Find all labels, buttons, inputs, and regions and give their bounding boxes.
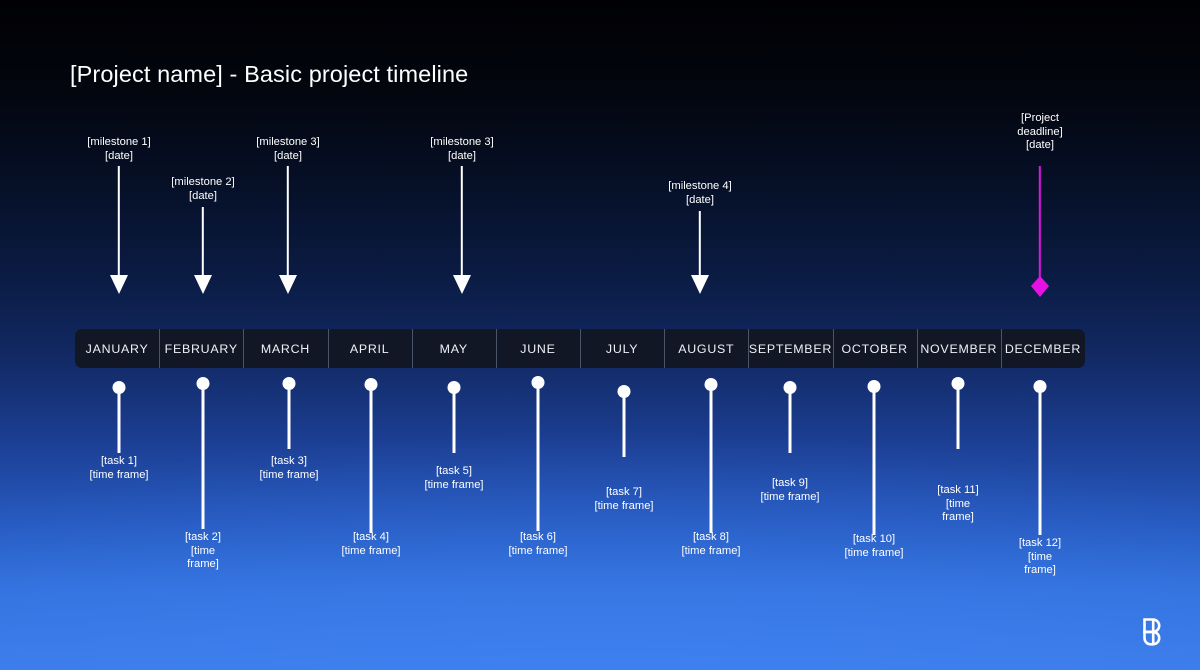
milestone-date: [date] (256, 150, 319, 164)
task-label[interactable]: [task 9][time frame] (742, 477, 838, 504)
deadline-text-line-2: deadline] (1017, 126, 1062, 140)
milestone-date: [date] (668, 194, 731, 208)
task-time-frame: [time frame] (742, 491, 838, 505)
milestone-name: [milestone 3] (430, 136, 493, 150)
task-pin-icon (1033, 380, 1047, 535)
task-label[interactable]: [task 2][time frame] (176, 531, 230, 572)
task-pin-icon (282, 377, 296, 449)
deadline-text-line-1: [Project (1017, 112, 1062, 126)
task-pin-icon (783, 381, 797, 453)
task-time-frame: [time frame] (176, 545, 230, 572)
month-bar: JANUARYFEBRUARYMARCHAPRILMAYJUNEJULYAUGU… (75, 329, 1085, 368)
month-cell[interactable]: APRIL (328, 329, 412, 368)
task-name: [task 3] (241, 455, 337, 469)
task-name: [task 1] (71, 455, 167, 469)
task-pin-icon (196, 377, 210, 529)
task-label[interactable]: [task 7][time frame] (576, 486, 672, 513)
milestone-arrow-icon (194, 207, 212, 294)
month-cell[interactable]: JULY (580, 329, 664, 368)
task-name: [task 4] (323, 531, 419, 545)
month-cell[interactable]: SEPTEMBER (748, 329, 832, 368)
month-cell[interactable]: JANUARY (75, 329, 159, 368)
task-name: [task 12] (1013, 537, 1067, 551)
task-pin-icon (531, 376, 545, 531)
task-time-frame: [time frame] (490, 545, 586, 559)
task-time-frame: [time frame] (71, 469, 167, 483)
month-cell[interactable]: OCTOBER (833, 329, 917, 368)
milestone-arrow-icon (110, 166, 128, 294)
milestone-name: [milestone 3] (256, 136, 319, 150)
task-time-frame: [time frame] (931, 498, 985, 525)
task-name: [task 6] (490, 531, 586, 545)
task-pin-icon (112, 381, 126, 453)
task-name: [task 5] (406, 465, 502, 479)
milestone-name: [milestone 2] (171, 176, 234, 190)
task-label[interactable]: [task 3][time frame] (241, 455, 337, 482)
task-time-frame: [time frame] (406, 479, 502, 493)
page-title: [Project name] - Basic project timeline (70, 61, 468, 88)
task-label[interactable]: [task 4][time frame] (323, 531, 419, 558)
brand-monogram-logo (1132, 610, 1172, 650)
task-time-frame: [time frame] (826, 547, 922, 561)
task-name: [task 9] (742, 477, 838, 491)
task-pin-icon (617, 385, 631, 457)
milestone-date: [date] (171, 190, 234, 204)
milestone-name: [milestone 4] (668, 180, 731, 194)
deadline-text-line-3: [date] (1017, 139, 1062, 153)
task-label[interactable]: [task 10][time frame] (826, 533, 922, 560)
task-name: [task 7] (576, 486, 672, 500)
timeline-infographic: [Project name] - Basic project timeline … (0, 0, 1200, 670)
task-pin-icon (364, 378, 378, 533)
task-name: [task 2] (176, 531, 230, 545)
task-name: [task 8] (663, 531, 759, 545)
task-time-frame: [time frame] (663, 545, 759, 559)
milestone-marker[interactable]: [milestone 2][date] (171, 176, 234, 203)
milestone-date: [date] (87, 150, 150, 164)
task-pin-icon (951, 377, 965, 449)
milestone-marker[interactable]: [milestone 3][date] (430, 136, 493, 163)
task-time-frame: [time frame] (576, 500, 672, 514)
project-deadline-label[interactable]: [Projectdeadline][date] (1017, 112, 1062, 153)
milestone-arrow-icon (453, 166, 471, 294)
task-label[interactable]: [task 8][time frame] (663, 531, 759, 558)
milestone-date: [date] (430, 150, 493, 164)
task-time-frame: [time frame] (1013, 551, 1067, 578)
month-cell[interactable]: MAY (412, 329, 496, 368)
task-name: [task 10] (826, 533, 922, 547)
month-cell[interactable]: MARCH (243, 329, 327, 368)
task-time-frame: [time frame] (241, 469, 337, 483)
month-cell[interactable]: DECEMBER (1001, 329, 1085, 368)
milestone-name: [milestone 1] (87, 136, 150, 150)
milestone-marker[interactable]: [milestone 4][date] (668, 180, 731, 207)
task-time-frame: [time frame] (323, 545, 419, 559)
milestone-arrow-icon (691, 211, 709, 294)
task-pin-icon (867, 380, 881, 535)
task-label[interactable]: [task 12][time frame] (1013, 537, 1067, 578)
task-label[interactable]: [task 5][time frame] (406, 465, 502, 492)
task-label[interactable]: [task 6][time frame] (490, 531, 586, 558)
month-cell[interactable]: AUGUST (664, 329, 748, 368)
month-cell[interactable]: JUNE (496, 329, 580, 368)
task-name: [task 11] (931, 484, 985, 498)
task-pin-icon (704, 378, 718, 533)
task-label[interactable]: [task 1][time frame] (71, 455, 167, 482)
milestone-marker[interactable]: [milestone 1][date] (87, 136, 150, 163)
month-cell[interactable]: FEBRUARY (159, 329, 243, 368)
milestone-marker[interactable]: [milestone 3][date] (256, 136, 319, 163)
month-cell[interactable]: NOVEMBER (917, 329, 1001, 368)
milestone-arrow-icon (279, 166, 297, 294)
task-pin-icon (447, 381, 461, 453)
task-label[interactable]: [task 11][time frame] (931, 484, 985, 525)
deadline-diamond-icon (1031, 166, 1049, 295)
